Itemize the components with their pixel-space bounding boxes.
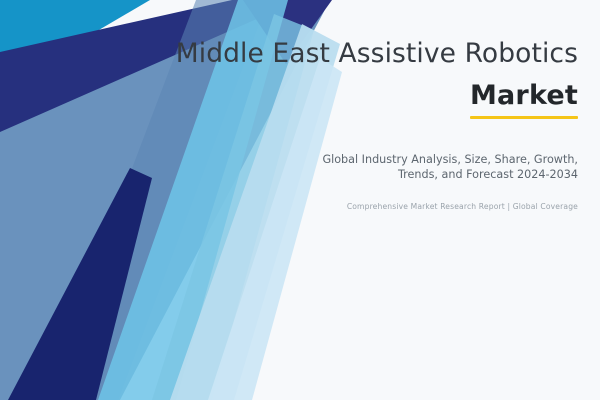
subtitle-block: Global Industry Analysis, Size, Share, G…	[248, 152, 578, 211]
accent-underline	[470, 116, 578, 119]
title-block: Middle East Assistive Robotics Market	[158, 38, 578, 119]
cover-content: Middle East Assistive Robotics Market Gl…	[0, 0, 600, 400]
subtitle-line-2: Trends, and Forecast 2024-2034	[248, 167, 578, 182]
page-title: Middle East Assistive Robotics	[158, 38, 578, 69]
market-heading-group: Market	[470, 81, 578, 119]
subtitle-line-1: Global Industry Analysis, Size, Share, G…	[248, 152, 578, 167]
tagline: Comprehensive Market Research Report | G…	[248, 202, 578, 211]
report-cover: Middle East Assistive Robotics Market Gl…	[0, 0, 600, 400]
market-heading: Market	[470, 81, 578, 111]
